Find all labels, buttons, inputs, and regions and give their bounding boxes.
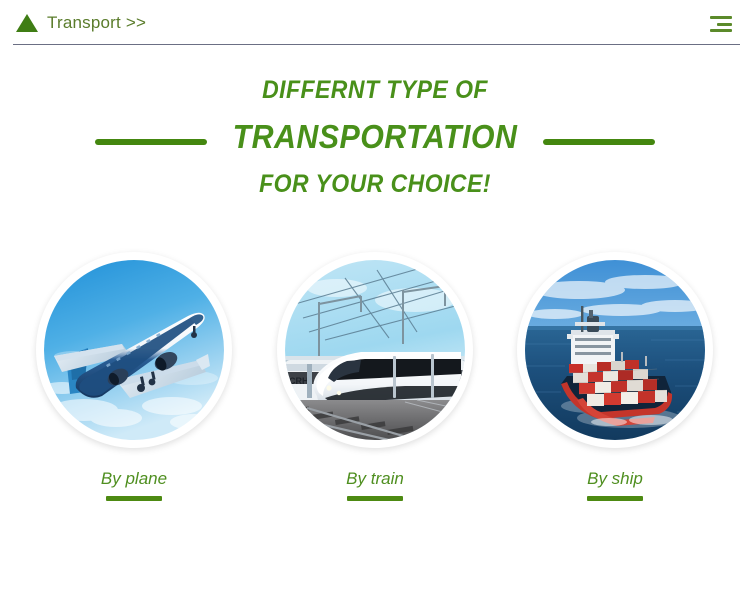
hero-dash-right bbox=[543, 139, 655, 145]
list-item-underline bbox=[347, 496, 403, 501]
card-image-plane-frame[interactable] bbox=[36, 252, 232, 448]
hamburger-menu-icon[interactable] bbox=[710, 16, 732, 32]
hero-dash-left bbox=[95, 139, 207, 145]
hamburger-line-1 bbox=[710, 16, 732, 19]
list-item[interactable]: By ship bbox=[495, 252, 735, 501]
high-speed-train-photo: CRH bbox=[285, 260, 465, 440]
list-item-underline bbox=[587, 496, 643, 501]
list-item-label: By train bbox=[255, 469, 495, 489]
transport-options-list: By plane bbox=[0, 252, 750, 552]
list-item-label: By plane bbox=[14, 469, 254, 489]
hamburger-line-3 bbox=[710, 29, 732, 32]
header-brand[interactable]: Transport >> bbox=[16, 13, 146, 33]
list-item[interactable]: CRH bbox=[255, 252, 495, 501]
list-item-label: By ship bbox=[495, 469, 735, 489]
triangle-up-icon bbox=[16, 14, 38, 32]
list-item[interactable]: By plane bbox=[14, 252, 254, 501]
header-divider bbox=[13, 44, 740, 45]
card-image-ship-frame[interactable] bbox=[517, 252, 713, 448]
card-image-train-frame[interactable]: CRH bbox=[277, 252, 473, 448]
hero-title-line-3: FOR YOUR CHOICE! bbox=[30, 172, 720, 197]
hero-title-line-1: DIFFERNT TYPE OF bbox=[30, 78, 720, 103]
hero-title-line-2: TRANSPORTATION bbox=[30, 120, 720, 153]
header-title: Transport >> bbox=[47, 13, 146, 33]
page-header: Transport >> bbox=[0, 0, 750, 46]
hamburger-line-2 bbox=[717, 23, 732, 26]
svg-text:CRH: CRH bbox=[289, 376, 309, 386]
hero-title-block: DIFFERNT TYPE OF TRANSPORTATION FOR YOUR… bbox=[0, 78, 750, 197]
list-item-underline bbox=[106, 496, 162, 501]
container-ship-photo bbox=[525, 260, 705, 440]
airplane-photo bbox=[44, 260, 224, 440]
